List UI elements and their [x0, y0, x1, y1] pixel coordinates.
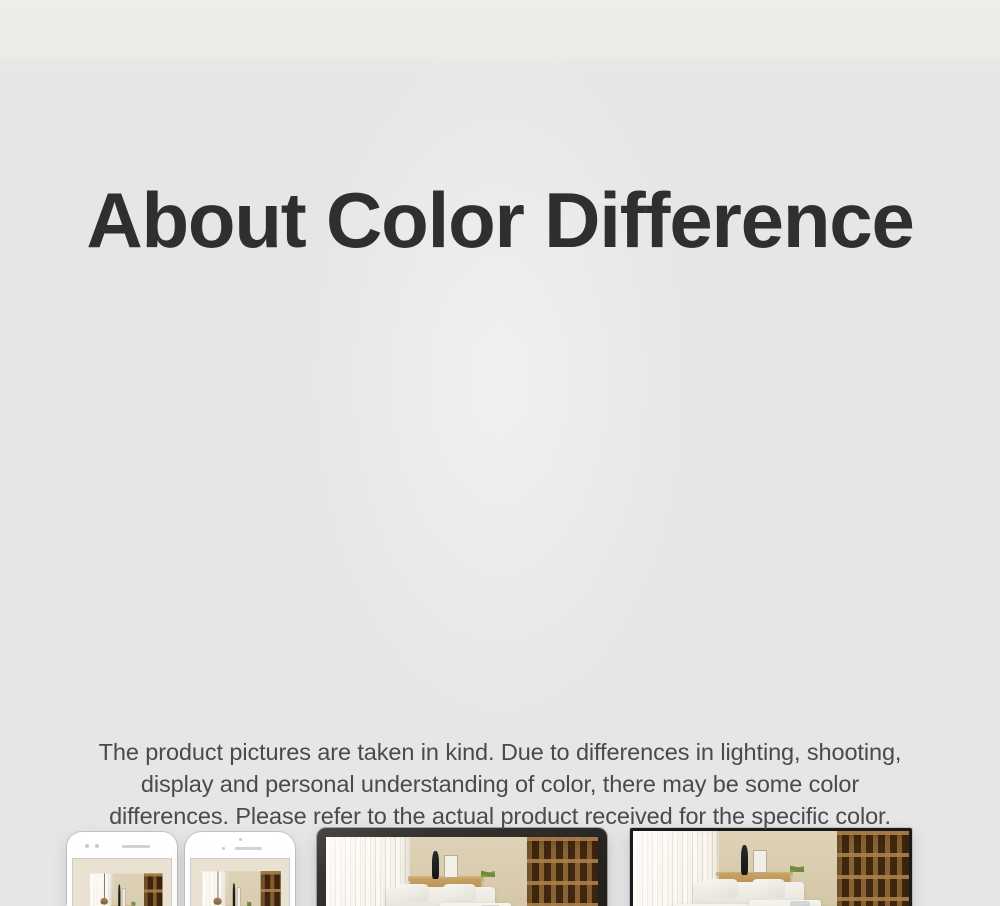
front-camera-icon: [239, 838, 242, 841]
proximity-sensor-icon: [222, 847, 225, 850]
apple-monitor-screen: [326, 837, 598, 906]
front-camera-icon: [85, 844, 89, 848]
black-monitor-screen: [633, 831, 909, 906]
room-scene: [90, 873, 163, 906]
page-background: About Color Difference: [0, 0, 1000, 906]
monitor-bezel: [630, 828, 912, 906]
proximity-sensor-icon: [95, 844, 99, 848]
room-scene: [202, 871, 280, 906]
caption-line-2: display and personal understanding of co…: [0, 768, 1000, 800]
monitor-apple-cinema-display: [317, 828, 607, 906]
caption-line-1: The product pictures are taken in kind. …: [0, 736, 1000, 768]
disclaimer-caption: The product pictures are taken in kind. …: [0, 736, 1000, 832]
room-scene: [326, 837, 598, 906]
room-scene: [633, 831, 909, 906]
monitor-bezel: [317, 828, 607, 906]
phone-iphone: [185, 832, 295, 906]
phone-iphone-screen: [191, 859, 289, 906]
phone-android: [67, 832, 177, 906]
device-comparison-row: [0, 408, 1000, 678]
caption-line-3: differences. Please refer to the actual …: [0, 800, 1000, 832]
phone-android-screen: [73, 859, 171, 906]
earpiece-speaker-icon: [122, 845, 150, 848]
earpiece-speaker-icon: [235, 847, 262, 850]
page-title: About Color Difference: [0, 172, 1000, 268]
monitor-black-thin-bezel: [630, 828, 912, 906]
